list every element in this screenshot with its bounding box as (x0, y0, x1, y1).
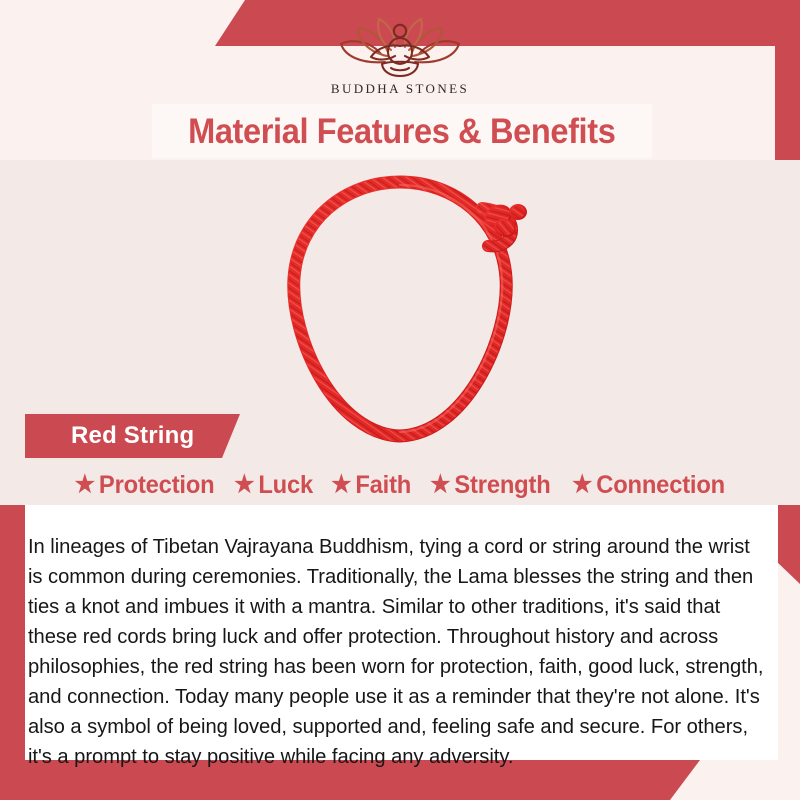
star-icon: ★ (331, 473, 351, 497)
benefit-label: Connection (596, 471, 725, 500)
star-icon: ★ (234, 473, 254, 497)
benefit-item-faith: ★ Faith (331, 471, 411, 500)
star-icon: ★ (572, 473, 592, 497)
benefit-label: Faith (355, 471, 411, 500)
page-title: Material Features & Benefits (188, 114, 615, 149)
brand-name: BUDDHA STONES (331, 81, 469, 97)
benefit-item-strength: ★ Strength (431, 471, 551, 500)
benefit-label: Luck (258, 471, 313, 500)
lotus-meditation-figure-icon (325, 14, 475, 80)
description-panel: In lineages of Tibetan Vajrayana Buddhis… (25, 505, 778, 760)
material-label-banner: Red String (25, 414, 240, 458)
benefit-label: Strength (455, 471, 551, 500)
material-label-text: Red String (71, 422, 194, 450)
benefits-row: ★ Protection ★ Luck ★ Faith ★ Strength ★… (0, 464, 800, 506)
benefit-item-luck: ★ Luck (234, 471, 313, 500)
title-banner: Material Features & Benefits (152, 104, 652, 158)
brand-logo: BUDDHA STONES (0, 14, 800, 104)
description-text: In lineages of Tibetan Vajrayana Buddhis… (28, 532, 765, 772)
benefit-label: Protection (99, 471, 215, 500)
star-icon: ★ (431, 473, 451, 497)
star-icon: ★ (75, 473, 95, 497)
benefit-item-connection: ★ Connection (572, 471, 725, 500)
infographic-card: BUDDHA STONES Material Features & Benefi… (0, 0, 800, 800)
benefit-item-protection: ★ Protection (75, 471, 215, 500)
red-braided-bracelet-image (250, 166, 550, 456)
